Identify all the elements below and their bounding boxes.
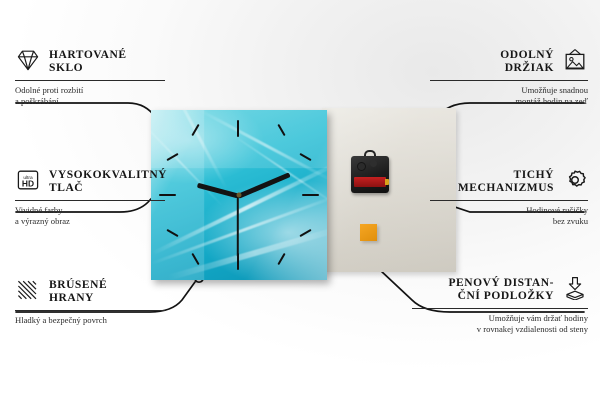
divider <box>430 200 588 201</box>
feature-title: TICHÝ MECHANIZMUS <box>458 168 554 195</box>
feature-ground-edges: BRÚSENÉ HRANY Hladký a bezpečný povrch <box>15 278 165 326</box>
divider <box>15 200 165 201</box>
second-hand <box>237 195 239 257</box>
infographic-canvas: HARTOVANÉ SKLO Odolné proti rozbití a po… <box>0 0 600 400</box>
battery <box>354 177 386 187</box>
divider <box>412 308 588 309</box>
product-photo <box>151 108 456 280</box>
stacked-arrow-icon <box>562 276 588 300</box>
clock-hub <box>237 193 242 198</box>
picture-frame-icon <box>562 48 588 72</box>
feature-high-quality-print: ultra HD VYSOKOKVALITNÝ TLAČ Vividné far… <box>15 168 165 226</box>
feature-description: Umožňuje vám držať hodiny v rovnakej vzd… <box>412 313 588 334</box>
clock-face <box>151 110 327 280</box>
feature-silent-mechanism: TICHÝ MECHANIZMUS Hodinové ručičky bez z… <box>430 168 588 226</box>
svg-text:HD: HD <box>22 178 34 188</box>
divider <box>15 310 165 311</box>
feature-description: Vividné farby a výrazný obraz <box>15 205 165 226</box>
feature-title: HARTOVANÉ SKLO <box>49 48 127 75</box>
feature-durable-holder: ODOLNÝ DRŽIAK Umožňuje snadnou montáž ho… <box>430 48 588 106</box>
divider <box>15 80 165 81</box>
feature-title: PENOVÝ DISTAN- ČNÍ PODLOŽKY <box>448 276 554 303</box>
feature-description: Umožňuje snadnou montáž hodin na zeď <box>430 85 588 106</box>
feature-tempered-glass: HARTOVANÉ SKLO Odolné proti rozbití a po… <box>15 48 165 106</box>
clock-movement <box>351 156 389 193</box>
feature-description: Hodinové ručičky bez zvuku <box>430 205 588 226</box>
feature-title: ODOLNÝ DRŽIAK <box>500 48 554 75</box>
gear-icon <box>562 168 588 192</box>
feature-foam-spacers: PENOVÝ DISTAN- ČNÍ PODLOŽKY Umožňuje vám… <box>412 276 588 334</box>
hatched-edge-icon <box>15 278 41 302</box>
feature-title: VYSOKOKVALITNÝ TLAČ <box>49 168 167 195</box>
ultra-hd-icon: ultra HD <box>15 168 41 192</box>
feature-title: BRÚSENÉ HRANY <box>49 278 107 305</box>
foam-spacer-pad <box>360 224 377 241</box>
feature-description: Hladký a bezpečný povrch <box>15 315 165 326</box>
movement-dial-secondary <box>370 160 377 167</box>
divider <box>430 80 588 81</box>
feature-description: Odolné proti rozbití a poškrábání <box>15 85 165 106</box>
diamond-icon <box>15 48 41 72</box>
movement-dial <box>357 162 366 171</box>
